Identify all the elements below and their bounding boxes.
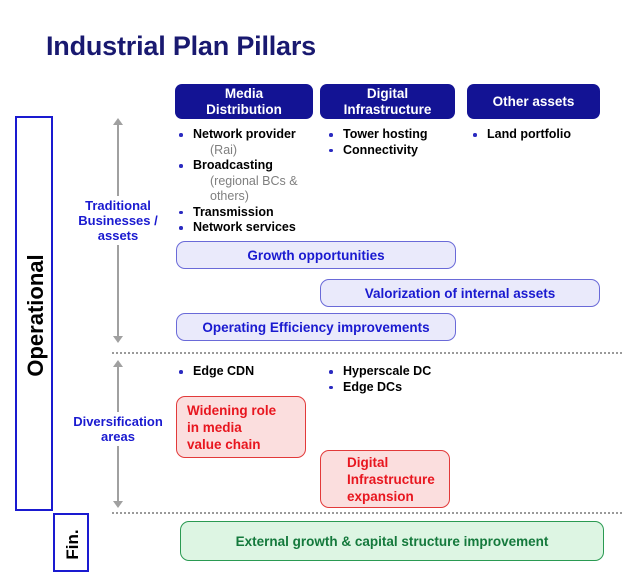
bullet-dot-icon (179, 211, 183, 215)
diversification-label-line1: Diversification (62, 414, 174, 429)
bar-label: Growth opportunities (247, 248, 384, 263)
box-line2: Infrastructure (347, 471, 439, 488)
box-line3: expansion (347, 488, 439, 505)
bullets-digital-infrastructure-diversification: Hyperscale DC Edge DCs (326, 364, 466, 395)
bullet-dot-icon (329, 149, 333, 153)
bar-external-growth[interactable]: External growth & capital structure impr… (180, 521, 604, 561)
list-item: Network services (176, 220, 316, 236)
bar-label: External growth & capital structure impr… (236, 534, 549, 549)
bullets-digital-infrastructure-traditional: Tower hosting Connectivity (326, 127, 466, 158)
bullet-dot-icon (329, 386, 333, 390)
operational-rail: Operational (15, 116, 53, 511)
bullets-media-distribution-traditional: Network provider (Rai) Broadcasting (reg… (176, 127, 316, 236)
bullet-text: Hyperscale DC (343, 364, 431, 378)
media-distribution-header-line1: Media (206, 86, 282, 102)
box-widening-role-media[interactable]: Widening role in media value chain (176, 396, 306, 458)
bullet-text: Tower hosting (343, 127, 428, 141)
list-item: Connectivity (326, 143, 466, 159)
list-item: Network provider (Rai) (176, 127, 316, 158)
bullet-dot-icon (329, 370, 333, 374)
bullet-text: Network provider (193, 127, 296, 141)
box-line1: Digital (347, 454, 439, 471)
divider-diversification-financial (112, 512, 622, 514)
bullet-subtext: (regional BCs & (193, 174, 316, 190)
bullet-dot-icon (179, 133, 183, 137)
traditional-label-line1: Traditional (70, 198, 166, 213)
box-line1: Widening role (187, 402, 295, 419)
box-line2: in media (187, 419, 295, 436)
bullet-text: Edge CDN (193, 364, 254, 378)
slide-canvas: Industrial Plan Pillars Operational Fin.… (0, 0, 634, 580)
bar-label: Valorization of internal assets (365, 286, 556, 301)
diversification-section-label: Diversification areas (62, 412, 174, 446)
list-item: Hyperscale DC (326, 364, 466, 380)
bullet-dot-icon (329, 133, 333, 137)
bullets-media-distribution-diversification: Edge CDN (176, 364, 316, 380)
financial-rail-label: Fin. (55, 515, 91, 574)
diversification-label-line2: areas (62, 429, 174, 444)
operational-rail-label: Operational (17, 118, 55, 513)
list-item: Land portfolio (470, 127, 610, 143)
bullet-dot-icon (473, 133, 477, 137)
bullet-text: Broadcasting (193, 158, 273, 172)
other-assets-header-line1: Other assets (493, 94, 575, 110)
traditional-label-line2: Businesses / (70, 213, 166, 228)
bullets-other-assets-traditional: Land portfolio (470, 127, 610, 143)
bullet-text: Connectivity (343, 143, 418, 157)
bar-label: Operating Efficiency improvements (202, 320, 429, 335)
bullet-dot-icon (179, 370, 183, 374)
bullet-text: Land portfolio (487, 127, 571, 141)
list-item: Edge CDN (176, 364, 316, 380)
financial-rail: Fin. (53, 513, 89, 572)
column-header-media-distribution[interactable]: Media Distribution (175, 84, 313, 119)
digital-infrastructure-header-line2: Infrastructure (344, 102, 432, 118)
list-item: Tower hosting (326, 127, 466, 143)
bullet-dot-icon (179, 226, 183, 230)
bar-operating-efficiency[interactable]: Operating Efficiency improvements (176, 313, 456, 341)
traditional-section-label: Traditional Businesses / assets (70, 196, 166, 245)
divider-traditional-diversification (112, 352, 622, 354)
box-line3: value chain (187, 436, 295, 453)
bullet-subtext: (Rai) (193, 143, 316, 159)
bullet-subtext: others) (193, 189, 316, 205)
column-header-other-assets[interactable]: Other assets (467, 84, 600, 119)
traditional-label-line3: assets (70, 228, 166, 243)
box-digital-infrastructure-expansion[interactable]: Digital Infrastructure expansion (320, 450, 450, 508)
bullet-text: Network services (193, 220, 296, 234)
bullet-text: Transmission (193, 205, 274, 219)
digital-infrastructure-header-line1: Digital (344, 86, 432, 102)
column-header-digital-infrastructure[interactable]: Digital Infrastructure (320, 84, 455, 119)
bullet-dot-icon (179, 164, 183, 168)
bullet-text: Edge DCs (343, 380, 402, 394)
list-item: Broadcasting (regional BCs & others) (176, 158, 316, 205)
list-item: Transmission (176, 205, 316, 221)
page-title: Industrial Plan Pillars (46, 31, 316, 62)
bar-growth-opportunities[interactable]: Growth opportunities (176, 241, 456, 269)
bar-valorization-internal-assets[interactable]: Valorization of internal assets (320, 279, 600, 307)
media-distribution-header-line2: Distribution (206, 102, 282, 118)
list-item: Edge DCs (326, 380, 466, 396)
